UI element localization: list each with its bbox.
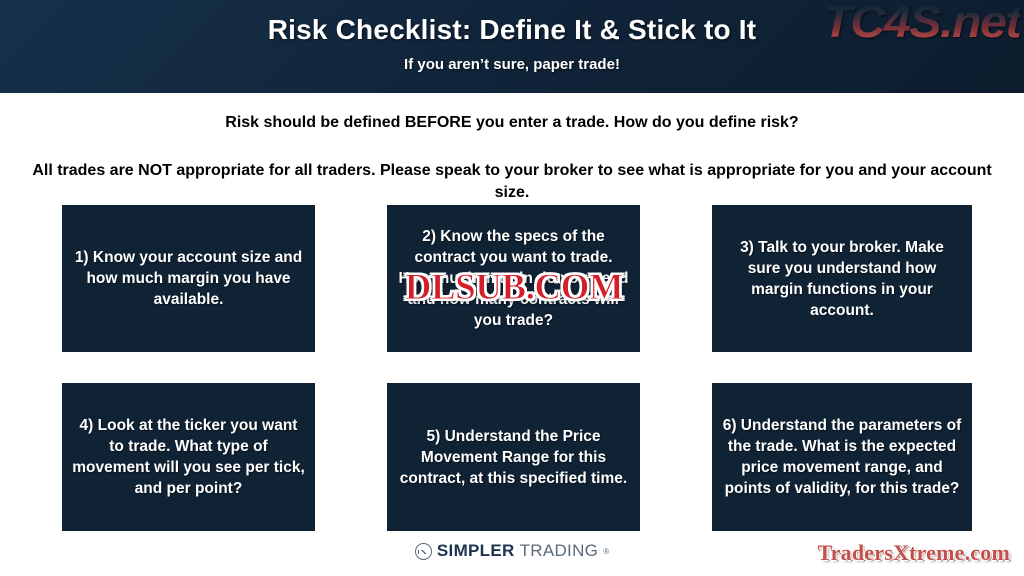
checklist-box-5: 5) Understand the Price Movement Range f… (387, 383, 640, 531)
dlsub-watermark: DLSUB.COM (370, 266, 658, 309)
checklist-box-4: 4) Look at the ticker you want to trade.… (62, 383, 315, 531)
tc4s-watermark: TC4S.net (822, 0, 1020, 48)
checklist-box-3-text: 3) Talk to your broker. Make sure you un… (722, 237, 962, 321)
brand-name-bold: SIMPLER (437, 541, 515, 561)
registered-trademark-symbol: ® (603, 547, 609, 556)
brand-name-light: TRADING (520, 541, 599, 561)
slide-header: Risk Checklist: Define It & Stick to It … (0, 0, 1024, 93)
checklist-box-1: 1) Know your account size and how much m… (62, 205, 315, 352)
checklist-box-6-text: 6) Understand the parameters of the trad… (722, 415, 962, 499)
page-subtitle: If you aren’t sure, paper trade! (0, 56, 1024, 73)
intro-disclaimer: All trades are NOT appropriate for all t… (28, 160, 996, 204)
tradersxtreme-watermark: TradersXtreme.com (817, 540, 1010, 566)
checklist-box-3: 3) Talk to your broker. Make sure you un… (712, 205, 972, 352)
checklist-box-6: 6) Understand the parameters of the trad… (712, 383, 972, 531)
checklist-box-4-text: 4) Look at the ticker you want to trade.… (72, 415, 305, 499)
checklist-box-1-text: 1) Know your account size and how much m… (72, 247, 305, 310)
checklist-box-5-text: 5) Understand the Price Movement Range f… (397, 426, 630, 489)
line-chart-circle-icon (415, 543, 432, 560)
intro-question: Risk should be defined BEFORE you enter … (28, 114, 996, 132)
